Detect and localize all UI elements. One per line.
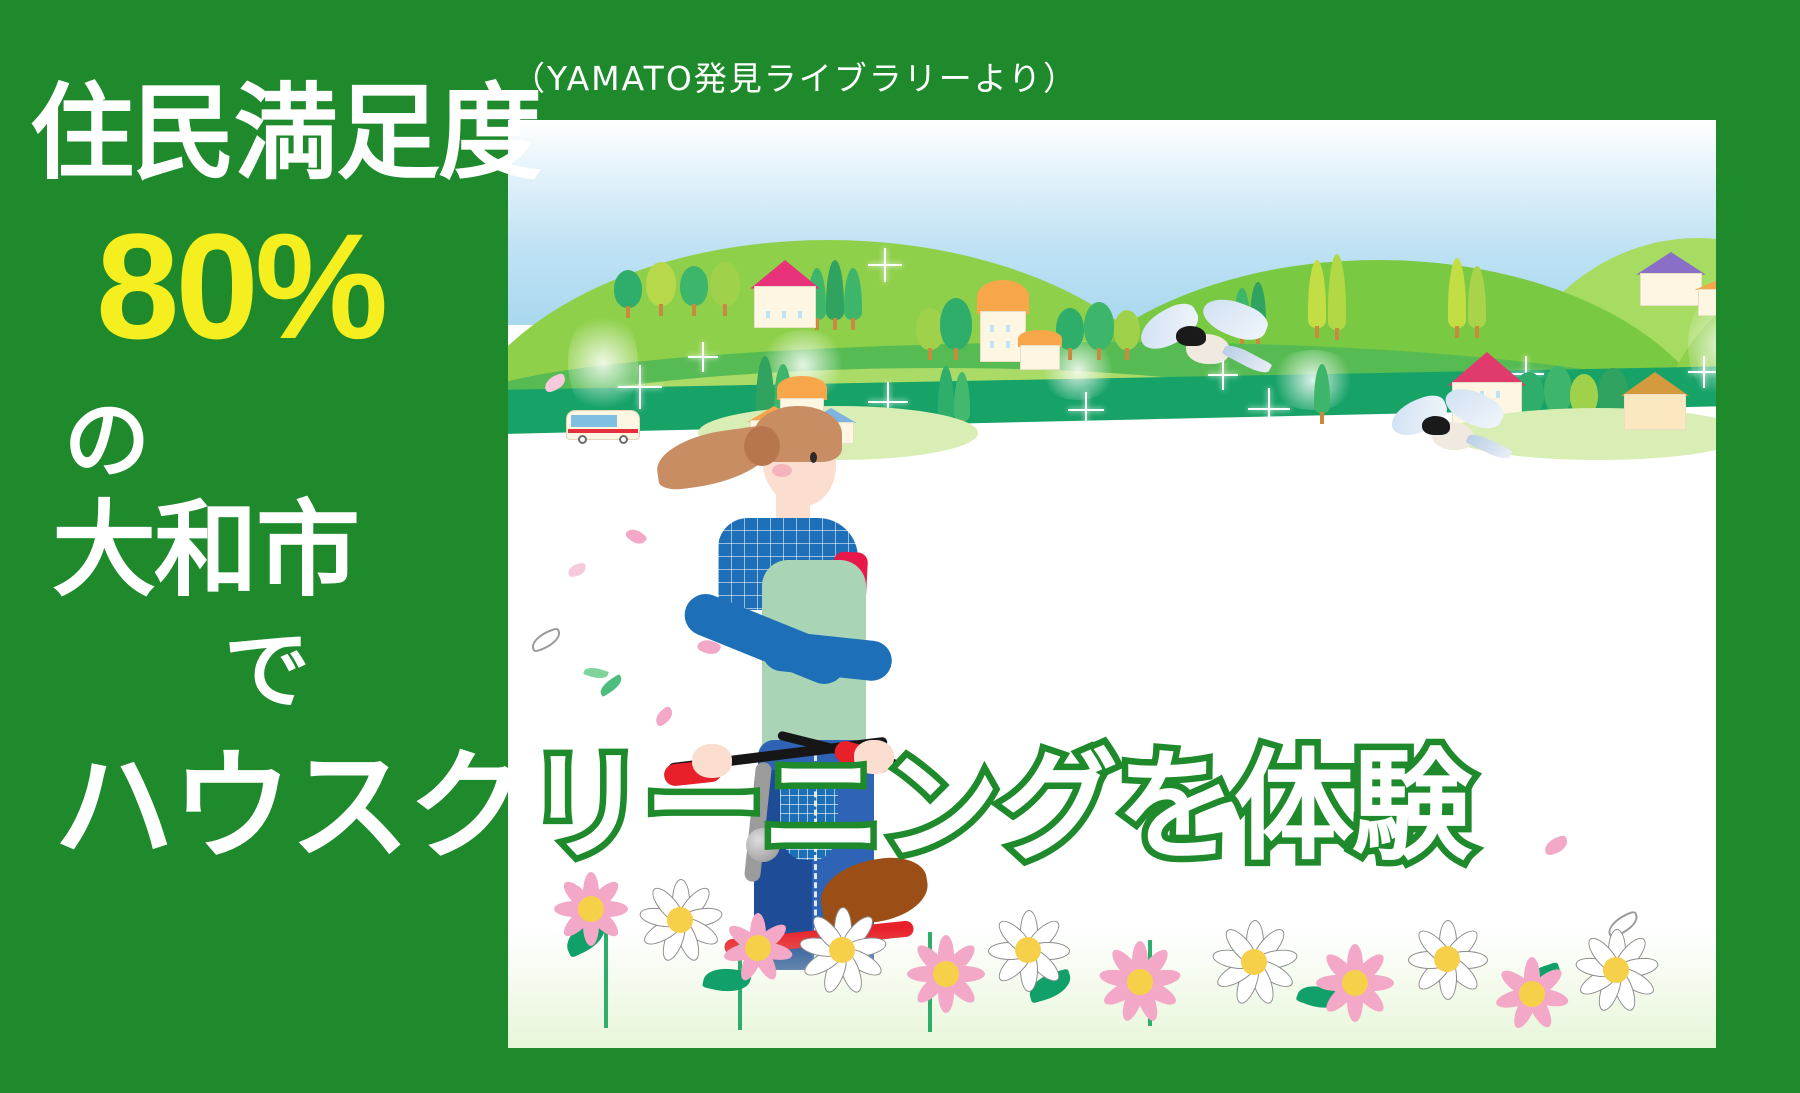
bird-icon	[1388, 392, 1508, 478]
tree-icon	[1084, 302, 1114, 360]
tree-icon	[1114, 310, 1140, 360]
sprig-icon	[583, 665, 609, 682]
tree-icon	[940, 298, 972, 360]
cypress-tree-icon	[1328, 254, 1346, 340]
light-glow	[1268, 350, 1358, 410]
petal-icon	[567, 563, 587, 578]
cheek-blush	[772, 464, 792, 477]
eye	[810, 452, 817, 463]
flower-white	[784, 892, 900, 1008]
flower-white	[1198, 906, 1310, 1018]
flower-white	[626, 866, 734, 974]
cypress-tree-icon	[1448, 258, 1466, 338]
flower-pink	[1488, 950, 1576, 1038]
tree-icon	[614, 270, 642, 318]
tree-icon	[680, 266, 708, 316]
bird-icon	[1138, 300, 1268, 390]
pavilion-icon	[1624, 372, 1686, 430]
cypress-tree-icon	[1314, 364, 1330, 424]
headline-line-5: で	[224, 600, 310, 725]
headline-line-1: 住民満足度	[30, 48, 540, 199]
cypress-tree-icon	[1308, 260, 1326, 338]
bottom-headline: ハウスクリーニングを体験	[54, 748, 1470, 868]
light-glow	[568, 308, 638, 418]
community-bus-icon	[566, 410, 640, 440]
flower-pink	[548, 866, 634, 952]
headline-city: 大和市	[52, 465, 358, 616]
poster-canvas: （YAMATO発見ライブラリーより） 住民満足度 80% の 大和市 で ハウス…	[0, 0, 1800, 1093]
headline-percentage: 80%	[96, 200, 384, 373]
flower-pink	[1308, 936, 1402, 1030]
flower-white	[1564, 918, 1668, 1022]
petal-icon	[624, 525, 648, 548]
flower-white	[978, 900, 1078, 1000]
cypress-tree-icon	[1468, 266, 1486, 338]
house-icon	[1698, 272, 1716, 316]
source-caption: （YAMATO発見ライブラリーより）	[512, 52, 1078, 100]
house-icon	[1640, 252, 1702, 306]
cypress-tree-icon	[844, 268, 862, 330]
house-icon	[754, 260, 816, 328]
leaf-outline-icon	[528, 627, 564, 654]
cypress-tree-icon	[826, 260, 844, 330]
house-icon	[1020, 330, 1060, 370]
illustration-panel	[508, 120, 1716, 1048]
bottom-headline-over-image: リーニングを体験	[526, 738, 1470, 877]
flower-white	[1398, 910, 1496, 1008]
tree-icon	[646, 262, 676, 316]
bottom-headline-on-green: ハウスク	[54, 738, 526, 877]
hair-bun	[744, 426, 780, 466]
flower-pink	[1088, 930, 1192, 1034]
tree-icon	[710, 262, 740, 316]
